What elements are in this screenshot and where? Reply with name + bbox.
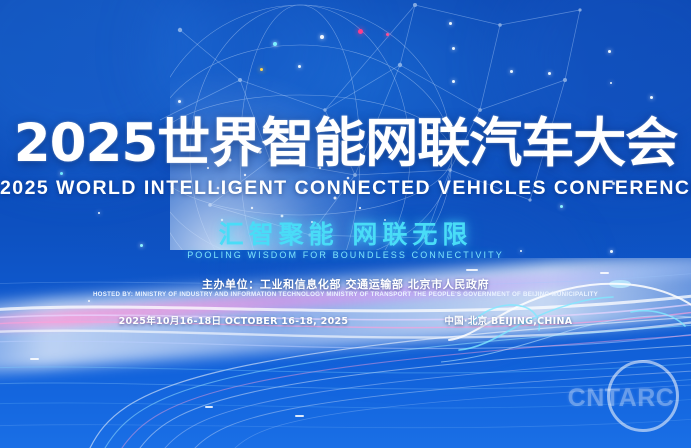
poster-content: 2025世界智能网联汽车大会 2025 WORLD INTELLIGENT CO…: [0, 0, 691, 448]
slogan-english: POOLING WISDOM FOR BOUNDLESS CONNECTIVIT…: [0, 250, 691, 260]
host-organizations-chinese: 主办单位：工业和信息化部 交通运输部 北京市人民政府: [0, 276, 691, 292]
date-location-bar: 2025年10月16-18日 OCTOBER 16-18, 2025 中国·北京…: [0, 313, 691, 327]
host-organizations-english: HOSTED BY: MINISTRY OF INDUSTRY AND INFO…: [0, 291, 691, 298]
conference-location: 中国·北京 BEIJING,CHINA: [444, 313, 572, 327]
page-title-chinese: 2025世界智能网联汽车大会: [0, 117, 691, 170]
slogan-chinese: 汇智聚能 网联无限: [0, 221, 691, 250]
page-title-english: 2025 WORLD INTELLIGENT CONNECTED VEHICLE…: [0, 177, 691, 200]
conference-poster: CNTARC 2025世界智能网联汽车大会 2025 WORLD INTELLI…: [0, 0, 691, 448]
conference-date: 2025年10月16-18日 OCTOBER 16-18, 2025: [119, 313, 349, 327]
